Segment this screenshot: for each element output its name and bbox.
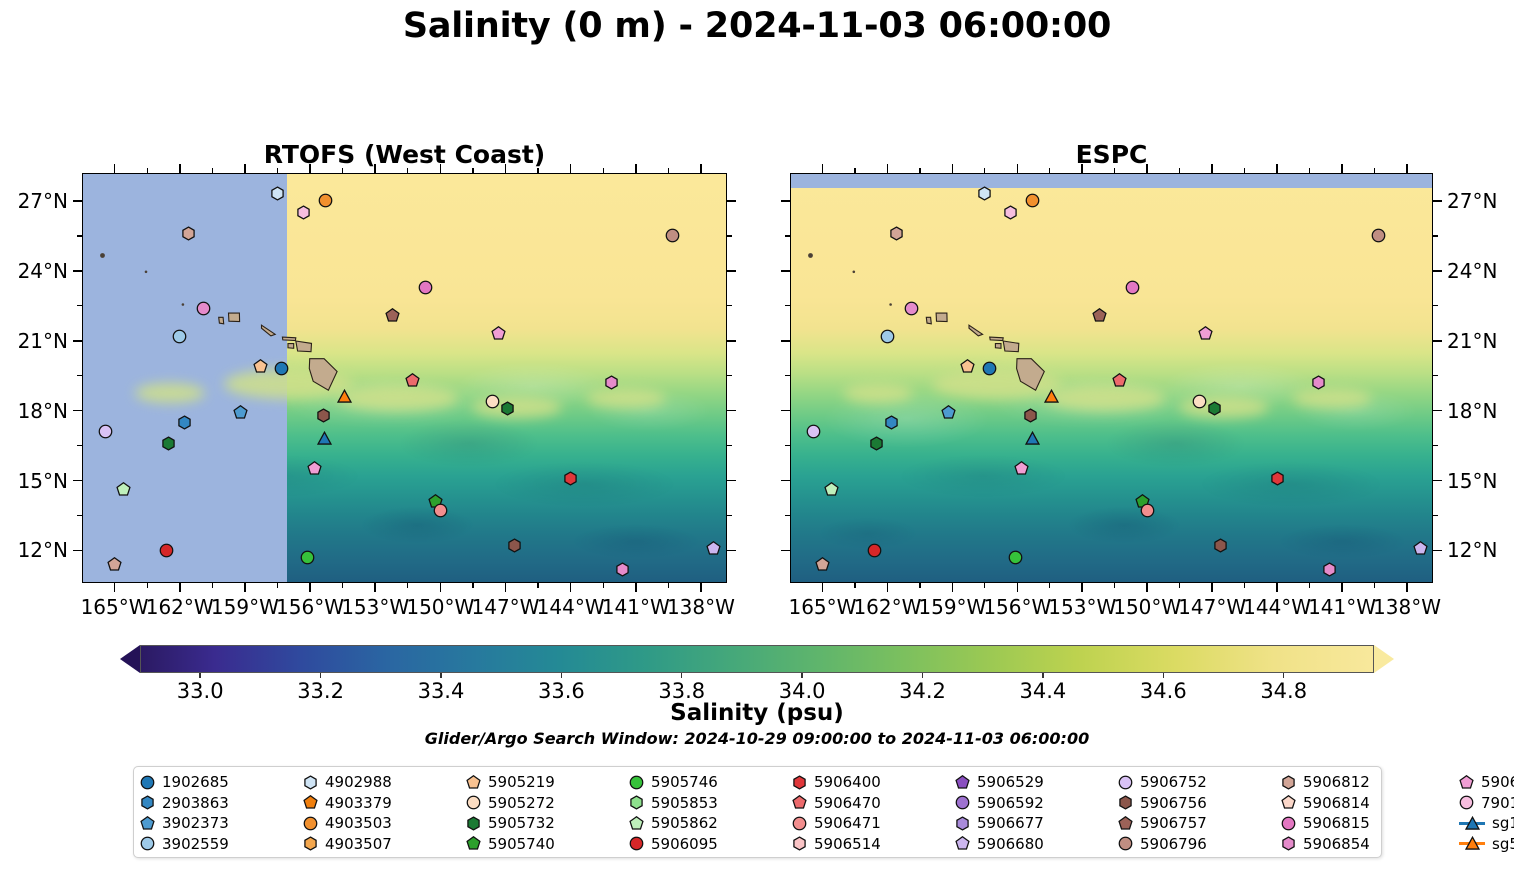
map-marker-5906756[interactable] (1213, 538, 1230, 555)
y-tick-label: 18°N (1447, 399, 1514, 423)
legend-item-5906756[interactable]: 5906756 (1118, 794, 1281, 812)
legend-label: 4903503 (325, 814, 392, 832)
x-tick (822, 164, 824, 173)
y-tick-minor (727, 445, 732, 446)
legend-label: 5906471 (814, 814, 881, 832)
hexagon-marker-icon (1281, 836, 1296, 851)
legend-item-4903379[interactable]: 4903379 (303, 794, 466, 812)
x-tick-minor (1049, 583, 1050, 588)
colorbar-tick (801, 673, 802, 678)
map-marker-5906860[interactable] (307, 461, 324, 478)
map-marker-4903503[interactable] (318, 193, 335, 210)
x-tick (244, 583, 246, 592)
map-marker-sg148-20240820T1744[interactable] (1025, 431, 1047, 453)
legend-item-5905732[interactable]: 5905732 (466, 814, 629, 832)
x-tick (1017, 583, 1019, 592)
legend-label: 5905272 (488, 794, 555, 812)
map-marker-5906471[interactable] (1140, 503, 1157, 520)
legend-label: 5905732 (488, 814, 555, 832)
map-marker-5905732[interactable] (161, 436, 178, 453)
map-marker-5905219[interactable] (960, 359, 977, 376)
hexagon-marker-icon (140, 795, 155, 810)
legend-label: 5905219 (488, 773, 555, 791)
x-tick (570, 164, 572, 173)
legend-item-5906752[interactable]: 5906752 (1118, 773, 1281, 791)
y-tick (1433, 200, 1442, 202)
map-marker-5906815[interactable] (904, 301, 921, 318)
y-tick (1433, 270, 1442, 272)
hexagon-marker-icon (1281, 775, 1296, 790)
y-tick (781, 340, 790, 342)
legend-item-sg148-20240820T1744[interactable]: sg148-20240820T1744 (1459, 814, 1514, 832)
legend-label: 3902373 (162, 814, 229, 832)
legend-item-3902559[interactable]: 3902559 (140, 835, 303, 853)
circle-marker-icon (1118, 836, 1133, 851)
legend-item-5906677[interactable]: 5906677 (955, 814, 1118, 832)
legend-label: 5906529 (977, 773, 1044, 791)
colorbar-tick (1042, 673, 1043, 678)
y-tick (781, 480, 790, 482)
pentagon-marker-icon (466, 836, 481, 851)
legend-item-5906854[interactable]: 5906854 (1281, 835, 1459, 853)
x-tick (1406, 164, 1408, 173)
colorbar-tick (1163, 673, 1164, 678)
map-marker-4902988[interactable] (270, 186, 287, 203)
legend-item-5906514[interactable]: 5906514 (792, 835, 955, 853)
x-tick (179, 583, 181, 592)
legend-label: 5906860 (1481, 773, 1514, 791)
legend-label: 5906815 (1303, 814, 1370, 832)
circle-marker-icon (1281, 816, 1296, 831)
map-marker-5906756[interactable] (1023, 408, 1040, 425)
map-marker-sg148-20240820T1744[interactable] (317, 431, 339, 453)
legend-label: 5906592 (977, 794, 1044, 812)
legend-item-5906470[interactable]: 5906470 (792, 794, 955, 812)
island-niihau (926, 317, 931, 324)
colorbar[interactable]: 33.033.233.433.633.834.034.234.434.634.8 (120, 645, 1394, 673)
map-marker-5906854[interactable] (604, 375, 621, 392)
legend-item-5906529[interactable]: 5906529 (955, 773, 1118, 791)
map-marker-7901106[interactable] (1003, 205, 1020, 222)
y-tick-label: 24°N (0, 259, 68, 283)
colorbar-extend-max-arrow (1374, 645, 1394, 673)
y-tick-minor (1433, 305, 1438, 306)
hexagon-marker-icon (629, 795, 644, 810)
map-marker-3902373[interactable] (233, 405, 250, 422)
x-tick (440, 583, 442, 592)
island-molokai (990, 337, 1004, 341)
map-marker-5905862[interactable] (824, 482, 841, 499)
hexagon-marker-icon (303, 836, 318, 851)
legend-item-5905746[interactable]: 5905746 (629, 773, 792, 791)
x-tick (505, 583, 507, 592)
map-panel-rtofs[interactable] (82, 173, 727, 583)
colorbar-tick (922, 673, 923, 678)
legend-item-5906471[interactable]: 5906471 (792, 814, 955, 832)
map-marker-5906860[interactable] (1198, 326, 1215, 343)
pentagon-marker-icon (1281, 795, 1296, 810)
x-tick-minor (919, 583, 920, 588)
legend-label: 5906470 (814, 794, 881, 812)
map-marker-5906680[interactable] (1413, 541, 1430, 558)
map-marker-5905732[interactable] (1207, 401, 1224, 418)
map-marker-5906814[interactable] (107, 557, 124, 574)
y-tick (73, 270, 82, 272)
circle-marker-icon (629, 775, 644, 790)
y-tick-minor (77, 445, 82, 446)
map-marker-5906854[interactable] (615, 562, 632, 579)
pentagon-marker-icon (1459, 775, 1474, 790)
legend-label: 5906756 (1140, 794, 1207, 812)
island-maui (296, 341, 312, 352)
salinity-field-rtofs (83, 174, 726, 582)
legend-label: 5906677 (977, 814, 1044, 832)
islet-speck (145, 271, 148, 274)
x-tick-minor (919, 168, 920, 173)
y-tick-label: 15°N (0, 469, 68, 493)
map-marker-5906752[interactable] (806, 424, 823, 441)
x-tick-minor (1374, 168, 1375, 173)
x-tick-minor (407, 168, 408, 173)
legend-label: 5905746 (651, 773, 718, 791)
colorbar-gradient (140, 645, 1374, 673)
hexagon-marker-icon (792, 775, 807, 790)
legend-item-5906680[interactable]: 5906680 (955, 835, 1118, 853)
y-tick-label: 27°N (0, 189, 68, 213)
circle-marker-icon (1459, 795, 1474, 810)
map-panel-espc[interactable] (790, 173, 1433, 583)
y-tick (73, 480, 82, 482)
map-marker-3902559[interactable] (880, 329, 897, 346)
legend-label: 5906752 (1140, 773, 1207, 791)
map-marker-5906860[interactable] (491, 326, 508, 343)
map-marker-5906815[interactable] (418, 280, 435, 297)
x-tick (374, 164, 376, 173)
glider-track-icon (1459, 836, 1485, 851)
map-marker-1902685[interactable] (274, 361, 291, 378)
map-marker-5905746[interactable] (300, 550, 317, 567)
x-tick (374, 583, 376, 592)
map-marker-5906796[interactable] (1371, 228, 1388, 245)
y-tick (1433, 340, 1442, 342)
circle-marker-icon (792, 816, 807, 831)
x-tick (505, 164, 507, 173)
circle-marker-icon (629, 836, 644, 851)
island-molokai (282, 337, 295, 341)
circle-marker-icon (140, 775, 155, 790)
x-tick (244, 164, 246, 173)
x-tick (952, 583, 954, 592)
colorbar-tick (440, 673, 441, 678)
map-marker-5906757[interactable] (1092, 308, 1109, 325)
map-marker-4902988[interactable] (977, 186, 994, 203)
y-tick (781, 550, 790, 552)
island-hawaii (309, 359, 337, 391)
map-marker-5906854[interactable] (1322, 562, 1339, 579)
map-marker-5906756[interactable] (316, 408, 333, 425)
search-window-caption: Glider/Argo Search Window: 2024-10-29 09… (0, 729, 1514, 748)
legend-item-4902988[interactable]: 4902988 (303, 773, 466, 791)
legend-item-5905862[interactable]: 5905862 (629, 814, 792, 832)
x-tick (1211, 583, 1213, 592)
map-marker-sg512-20240723T1831[interactable] (337, 389, 359, 411)
map-marker-5906814[interactable] (815, 557, 832, 574)
y-tick-minor (785, 305, 790, 306)
y-tick (727, 270, 736, 272)
colorbar-extend-min-arrow (120, 645, 140, 673)
x-tick-minor (537, 168, 538, 173)
legend-label: 4903507 (325, 835, 392, 853)
legend-label: 5905862 (651, 814, 718, 832)
x-tick-minor (603, 168, 604, 173)
map-marker-5906471[interactable] (433, 503, 450, 520)
map-marker-5906860[interactable] (1014, 461, 1031, 478)
y-tick-label: 21°N (0, 329, 68, 353)
x-tick-minor (1244, 168, 1245, 173)
y-tick-label: 21°N (1447, 329, 1514, 353)
colorbar-tick (320, 673, 321, 678)
x-tick-minor (212, 583, 213, 588)
island-lanai (288, 344, 294, 349)
y-tick-minor (727, 375, 732, 376)
legend-item-1902685[interactable]: 1902685 (140, 773, 303, 791)
map-marker-5905219[interactable] (253, 359, 270, 376)
legend-label: 5906400 (814, 773, 881, 791)
x-tick-minor (1049, 168, 1050, 173)
x-tick-minor (472, 583, 473, 588)
map-marker-5906470[interactable] (1112, 373, 1129, 390)
map-marker-1902685[interactable] (982, 361, 999, 378)
legend-item-4903507[interactable]: 4903507 (303, 835, 466, 853)
x-tick-minor (1114, 168, 1115, 173)
y-tick (1433, 550, 1442, 552)
x-tick-minor (984, 168, 985, 173)
legend-item-5906815[interactable]: 5906815 (1281, 814, 1459, 832)
x-tick (440, 164, 442, 173)
island-kauai (229, 313, 240, 321)
colorbar-tick (561, 673, 562, 678)
map-marker-5906796[interactable] (665, 228, 682, 245)
map-marker-3902373[interactable] (941, 405, 958, 422)
map-marker-5905732[interactable] (869, 436, 886, 453)
legend-label: 2903863 (162, 794, 229, 812)
map-marker-5906680[interactable] (706, 541, 723, 558)
map-marker-2903863[interactable] (884, 415, 901, 432)
y-tick (781, 410, 790, 412)
pentagon-marker-icon (1118, 816, 1133, 831)
legend-item-5906860[interactable]: 5906860 (1459, 773, 1514, 791)
map-marker-7901106[interactable] (296, 205, 313, 222)
map-marker-2903863[interactable] (177, 415, 194, 432)
x-tick (887, 164, 889, 173)
y-tick-label: 12°N (0, 538, 68, 562)
y-tick-minor (727, 305, 732, 306)
legend-label: 5906680 (977, 835, 1044, 853)
legend-item-3902373[interactable]: 3902373 (140, 814, 303, 832)
x-tick-minor (147, 583, 148, 588)
map-marker-5906470[interactable] (405, 373, 422, 390)
map-marker-5906095[interactable] (159, 543, 176, 560)
x-tick (1211, 164, 1213, 173)
legend-item-5906814[interactable]: 5906814 (1281, 794, 1459, 812)
legend-label: 5906814 (1303, 794, 1370, 812)
island-niihau (219, 317, 224, 324)
y-tick-minor (785, 515, 790, 516)
map-marker-5906752[interactable] (98, 424, 115, 441)
circle-marker-icon (955, 795, 970, 810)
circle-marker-icon (1118, 775, 1133, 790)
x-tick (700, 583, 702, 592)
hexagon-marker-icon (955, 816, 970, 831)
x-tick (1406, 583, 1408, 592)
x-tick-label: 138°W (1361, 595, 1453, 619)
y-tick (781, 270, 790, 272)
y-tick-minor (77, 235, 82, 236)
legend-label: 5906095 (651, 835, 718, 853)
map-marker-5906757[interactable] (385, 308, 402, 325)
y-tick (727, 200, 736, 202)
y-tick (781, 200, 790, 202)
hexagon-marker-icon (1118, 795, 1133, 810)
map-marker-5906854[interactable] (1311, 375, 1328, 392)
legend-item-5905853[interactable]: 5905853 (629, 794, 792, 812)
map-marker-5906815[interactable] (196, 301, 213, 318)
x-tick (887, 583, 889, 592)
x-tick-minor (342, 168, 343, 173)
x-tick-minor (603, 583, 604, 588)
y-tick (727, 480, 736, 482)
map-marker-5906812[interactable] (181, 226, 198, 243)
x-tick-minor (212, 168, 213, 173)
legend-label: 1902685 (162, 773, 229, 791)
x-tick (1341, 164, 1343, 173)
map-marker-4903503[interactable] (1025, 193, 1042, 210)
x-tick (309, 583, 311, 592)
hexagon-marker-icon (792, 836, 807, 851)
x-tick-minor (1179, 168, 1180, 173)
map-marker-sg512-20240723T1831[interactable] (1044, 389, 1066, 411)
y-tick-minor (727, 515, 732, 516)
legend-label: 5906796 (1140, 835, 1207, 853)
platform-legend[interactable]: 1902685490298859052195905746590640059065… (133, 766, 1382, 858)
x-tick (1341, 583, 1343, 592)
y-tick (73, 340, 82, 342)
islet-speck (889, 303, 892, 306)
y-tick-minor (785, 445, 790, 446)
colorbar-tick (199, 673, 200, 678)
legend-item-4903503[interactable]: 4903503 (303, 814, 466, 832)
map-marker-5905862[interactable] (116, 482, 133, 499)
legend-item-2903863[interactable]: 2903863 (140, 794, 303, 812)
x-tick-minor (1244, 583, 1245, 588)
y-tick (727, 550, 736, 552)
map-marker-5906095[interactable] (867, 543, 884, 560)
circle-marker-icon (466, 795, 481, 810)
y-tick-minor (1433, 445, 1438, 446)
map-marker-5906756[interactable] (507, 538, 524, 555)
legend-item-5906757[interactable]: 5906757 (1118, 814, 1281, 832)
legend-item-5906592[interactable]: 5906592 (955, 794, 1118, 812)
x-tick-minor (854, 168, 855, 173)
y-tick-label: 24°N (1447, 259, 1514, 283)
x-tick (1146, 583, 1148, 592)
x-tick (1276, 583, 1278, 592)
y-tick (73, 550, 82, 552)
legend-item-5905740[interactable]: 5905740 (466, 835, 629, 853)
islet-speck (100, 253, 105, 258)
map-marker-5906400[interactable] (563, 471, 580, 488)
pentagon-marker-icon (955, 775, 970, 790)
y-tick-minor (1433, 515, 1438, 516)
legend-label: sg512-20240723T1831 (1492, 835, 1514, 853)
x-tick-minor (147, 168, 148, 173)
x-tick-minor (1309, 168, 1310, 173)
x-tick (1017, 164, 1019, 173)
y-tick-minor (727, 235, 732, 236)
map-marker-5906400[interactable] (1270, 471, 1287, 488)
pentagon-marker-icon (955, 836, 970, 851)
legend-item-5906796[interactable]: 5906796 (1118, 835, 1281, 853)
map-marker-5905732[interactable] (500, 401, 517, 418)
x-tick-minor (407, 583, 408, 588)
pentagon-marker-icon (792, 795, 807, 810)
colorbar-label: Salinity (psu) (0, 700, 1514, 726)
legend-item-7901106[interactable]: 7901106 (1459, 794, 1514, 812)
map-marker-5906815[interactable] (1125, 280, 1142, 297)
legend-item-5905219[interactable]: 5905219 (466, 773, 629, 791)
legend-item-sg512-20240723T1831[interactable]: sg512-20240723T1831 (1459, 835, 1514, 853)
islet-speck (808, 253, 813, 258)
x-tick-minor (537, 583, 538, 588)
x-tick (570, 583, 572, 592)
y-tick-label: 12°N (1447, 538, 1514, 562)
legend-label: 3902559 (162, 835, 229, 853)
x-tick (1081, 583, 1083, 592)
x-tick (635, 164, 637, 173)
island-kauai (936, 313, 947, 321)
page-title: Salinity (0 m) - 2024-11-03 06:00:00 (0, 6, 1514, 46)
hexagon-marker-icon (303, 775, 318, 790)
map-marker-5905746[interactable] (1008, 550, 1025, 567)
legend-item-5906400[interactable]: 5906400 (792, 773, 955, 791)
map-marker-3902559[interactable] (172, 329, 189, 346)
island-lanai (995, 344, 1001, 349)
y-tick-minor (77, 375, 82, 376)
island-hawaii (1017, 359, 1045, 391)
x-tick-minor (668, 168, 669, 173)
y-tick (727, 340, 736, 342)
x-tick-label: 138°W (655, 595, 747, 619)
y-tick-minor (1433, 375, 1438, 376)
island-oahu (262, 325, 276, 336)
island-oahu (969, 325, 983, 336)
x-tick (1081, 164, 1083, 173)
map-marker-5906812[interactable] (889, 226, 906, 243)
legend-label: 5905740 (488, 835, 555, 853)
x-tick-minor (1374, 583, 1375, 588)
legend-item-5906095[interactable]: 5906095 (629, 835, 792, 853)
y-tick-minor (785, 235, 790, 236)
y-tick (73, 410, 82, 412)
y-tick-label: 15°N (1447, 469, 1514, 493)
pentagon-marker-icon (629, 816, 644, 831)
x-tick-minor (854, 583, 855, 588)
legend-item-5906812[interactable]: 5906812 (1281, 773, 1459, 791)
x-tick (822, 583, 824, 592)
y-tick-minor (77, 515, 82, 516)
glider-track-icon (1459, 816, 1485, 831)
legend-item-5905272[interactable]: 5905272 (466, 794, 629, 812)
